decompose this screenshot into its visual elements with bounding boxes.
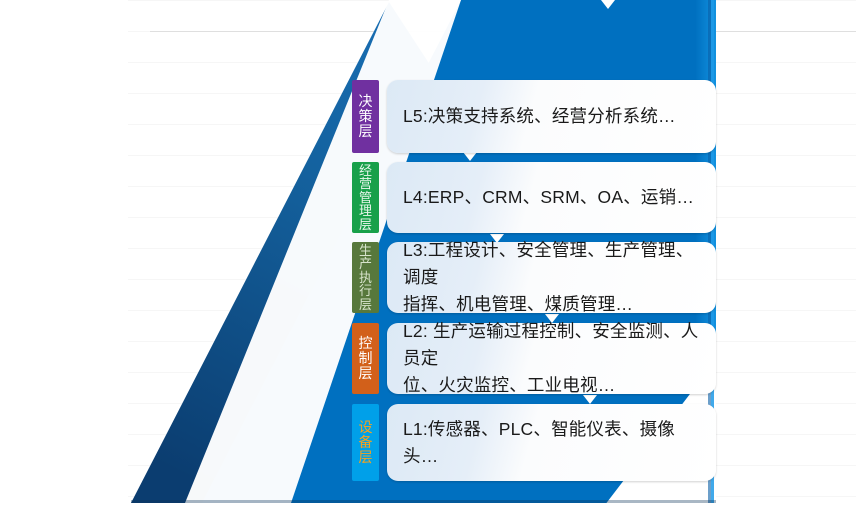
layer-tag-char: 决: [359, 94, 373, 109]
layer-tag-char: 备: [359, 435, 373, 450]
layer-row-l2[interactable]: 控 制 层 L2: 生产运输过程控制、安全监测、人员定 位、火灾监控、工业电视…: [352, 323, 716, 394]
layer-tag-char: 层: [359, 366, 373, 381]
layer-tag-char: 生: [359, 244, 372, 258]
layer-row-l4[interactable]: 经 营 管 理 层 L4:ERP、CRM、SRM、OA、运销…: [352, 162, 716, 233]
layer-tag-char: 行: [359, 284, 372, 298]
layer-tag-char: 层: [359, 124, 373, 139]
layer-tag-char: 控: [359, 336, 373, 351]
diagram-canvas: 决 策 层 L5:决策支持系统、经营分析系统… 经 营 管 理 层 L4:ERP…: [0, 0, 856, 514]
layer-card-l2[interactable]: L2: 生产运输过程控制、安全监测、人员定 位、火灾监控、工业电视…: [387, 323, 716, 394]
layer-tag-char: 层: [359, 450, 373, 465]
layer-card-text: L1:传感器、PLC、智能仪表、摄像头…: [403, 416, 700, 470]
layer-tag-char: 层: [359, 218, 372, 232]
layer-row-l5[interactable]: 决 策 层 L5:决策支持系统、经营分析系统…: [352, 80, 716, 153]
layer-tag-char: 设: [359, 420, 373, 435]
layer-tag-char: 制: [359, 351, 373, 366]
layer-card-l3[interactable]: L3:工程设计、安全管理、生产管理、调度 指挥、机电管理、煤质管理…: [387, 242, 716, 313]
layer-row-l1[interactable]: 设 备 层 L1:传感器、PLC、智能仪表、摄像头…: [352, 404, 716, 481]
layer-tag-char: 策: [359, 109, 373, 124]
layer-card-text: L4:ERP、CRM、SRM、OA、运销…: [403, 184, 694, 211]
layer-tag-char: 层: [359, 298, 372, 312]
layer-card-text: L2: 生产运输过程控制、安全监测、人员定 位、火灾监控、工业电视…: [403, 318, 700, 399]
layer-row-l3[interactable]: 生 产 执 行 层 L3:工程设计、安全管理、生产管理、调度 指挥、机电管理、煤…: [352, 242, 716, 313]
layer-tag-char: 经: [359, 164, 372, 178]
layer-card-l4[interactable]: L4:ERP、CRM、SRM、OA、运销…: [387, 162, 716, 233]
layer-tag-char: 营: [359, 177, 372, 191]
layer-tag-char: 产: [359, 257, 372, 271]
layer-tag-l3[interactable]: 生 产 执 行 层: [352, 242, 379, 313]
layer-tag-char: 理: [359, 204, 372, 218]
layer-card-l5[interactable]: L5:决策支持系统、经营分析系统…: [387, 80, 716, 153]
layer-tag-char: 执: [359, 271, 372, 285]
layer-card-text: L5:决策支持系统、经营分析系统…: [403, 103, 676, 130]
layer-tag-char: 管: [359, 191, 372, 205]
layer-card-text: L3:工程设计、安全管理、生产管理、调度 指挥、机电管理、煤质管理…: [403, 237, 700, 318]
layer-tag-l2[interactable]: 控 制 层: [352, 323, 379, 394]
layer-card-l1[interactable]: L1:传感器、PLC、智能仪表、摄像头…: [387, 404, 716, 481]
layer-tag-l1[interactable]: 设 备 层: [352, 404, 379, 481]
layer-tag-l5[interactable]: 决 策 层: [352, 80, 379, 153]
layer-tag-l4[interactable]: 经 营 管 理 层: [352, 162, 379, 233]
layer-stack: 决 策 层 L5:决策支持系统、经营分析系统… 经 营 管 理 层 L4:ERP…: [0, 0, 856, 514]
